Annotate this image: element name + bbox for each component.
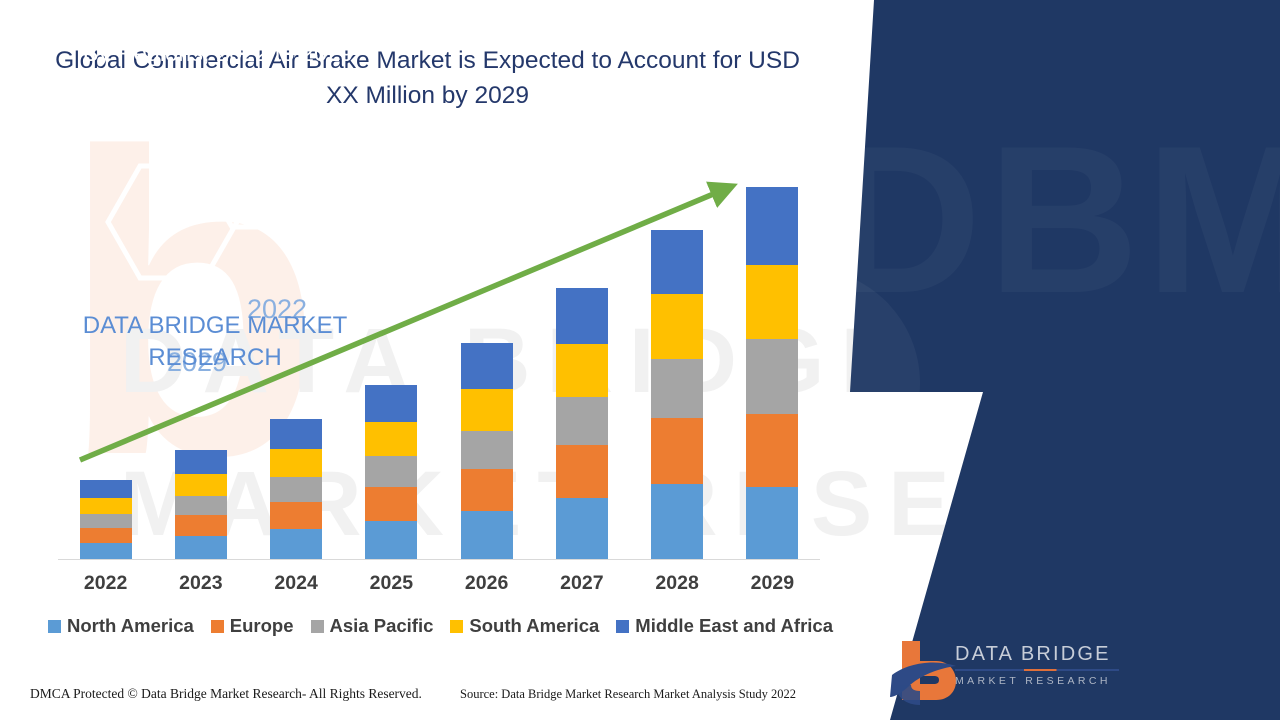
bar-segment [461,469,513,511]
bar-column-2027[interactable] [556,288,608,560]
bar-segment [270,419,322,449]
bar-column-2029[interactable] [746,187,798,560]
bar-segment [80,514,132,528]
bar-segment [746,339,798,414]
side-panel-title-line-1: Global Commercial Air Brake Market, [18,4,418,37]
bar-segment [556,344,608,397]
x-axis-label-2025: 2025 [346,572,436,595]
hexagon-group: 2022 2029 [0,130,430,300]
bar-segment [365,487,417,521]
bar-segment [651,484,703,560]
bar-segment [175,536,227,560]
x-axis-label-2026: 2026 [442,572,532,595]
legend-item[interactable]: North America [48,615,194,637]
logo-divider [955,669,1119,671]
brand-name: DATA BRIDGE MARKET RESEARCH [15,310,415,375]
bar-segment [556,288,608,344]
legend-label: North America [67,615,194,637]
x-axis-label-2028: 2028 [632,572,722,595]
bar-column-2024[interactable] [270,419,322,560]
bar-segment [365,422,417,456]
bar-segment [365,385,417,422]
logo-text-block: DATA BRIDGE MARKET RESEARCH [955,643,1125,687]
bar-segment [270,477,322,502]
bar-segment [80,528,132,543]
hexagon-2029-icon [108,166,237,278]
bar-segment [80,498,132,514]
x-axis-label-2029: 2029 [727,572,817,595]
logo-subtitle: MARKET RESEARCH [955,675,1125,687]
bar-segment [461,389,513,431]
bar-segment [651,294,703,359]
legend-label: Middle East and Africa [635,615,833,637]
x-axis-label-2027: 2027 [537,572,627,595]
chart-legend: North AmericaEuropeAsia PacificSouth Ame… [58,615,823,637]
bar-segment [746,414,798,487]
bar-segment [746,265,798,339]
bar-segment [175,496,227,515]
legend-label: Asia Pacific [330,615,434,637]
bar-column-2026[interactable] [461,343,513,560]
x-axis-label-2023: 2023 [156,572,246,595]
bar-segment [365,521,417,560]
bar-segment [365,456,417,487]
brand-name-line-2: RESEARCH [15,342,415,374]
bar-segment [80,480,132,498]
bar-column-2028[interactable] [651,230,703,560]
bar-segment [175,474,227,496]
legend-label: Europe [230,615,294,637]
bar-segment [651,359,703,418]
logo-title: DATA BRIDGE [955,643,1125,665]
bar-column-2023[interactable] [175,450,227,560]
x-axis-label-2022: 2022 [61,572,151,595]
bar-segment [175,450,227,474]
bar-segment [461,431,513,469]
legend-swatch-icon [450,620,463,633]
legend-label: South America [469,615,599,637]
bar-column-2025[interactable] [365,385,417,560]
bar-segment [746,487,798,560]
bar-segment [556,498,608,560]
legend-item[interactable]: Asia Pacific [311,615,434,637]
x-axis-label-2024: 2024 [251,572,341,595]
bar-segment [80,543,132,560]
side-panel-watermark: DBMR [830,120,1280,320]
side-panel-title-line-2: By Regions, 2022 to 2029 [18,37,418,70]
bar-segment [270,449,322,477]
side-panel: DBMR [850,0,1280,720]
bar-segment [270,502,322,529]
x-axis-line [58,559,820,560]
x-axis-labels: 20222023202420252026202720282029 [58,572,820,602]
bar-segment [556,397,608,445]
legend-item[interactable]: Europe [211,615,294,637]
bar-segment [556,445,608,498]
side-panel-title: Global Commercial Air Brake Market, By R… [18,4,418,71]
bar-segment [746,187,798,265]
legend-swatch-icon [616,620,629,633]
footer-copyright: DMCA Protected © Data Bridge Market Rese… [30,686,422,702]
legend-swatch-icon [311,620,324,633]
bar-segment [270,529,322,560]
legend-item[interactable]: South America [450,615,599,637]
bar-segment [461,511,513,560]
legend-item[interactable]: Middle East and Africa [616,615,833,637]
footer-source: Source: Data Bridge Market Research Mark… [460,687,796,702]
legend-swatch-icon [211,620,224,633]
bar-segment [461,343,513,389]
bar-column-2022[interactable] [80,480,132,560]
legend-swatch-icon [48,620,61,633]
bar-segment [175,515,227,536]
bar-segment [651,230,703,294]
brand-name-line-1: DATA BRIDGE MARKET [83,312,347,339]
bar-segment [651,418,703,484]
hexagon-2022-icon [204,131,316,227]
